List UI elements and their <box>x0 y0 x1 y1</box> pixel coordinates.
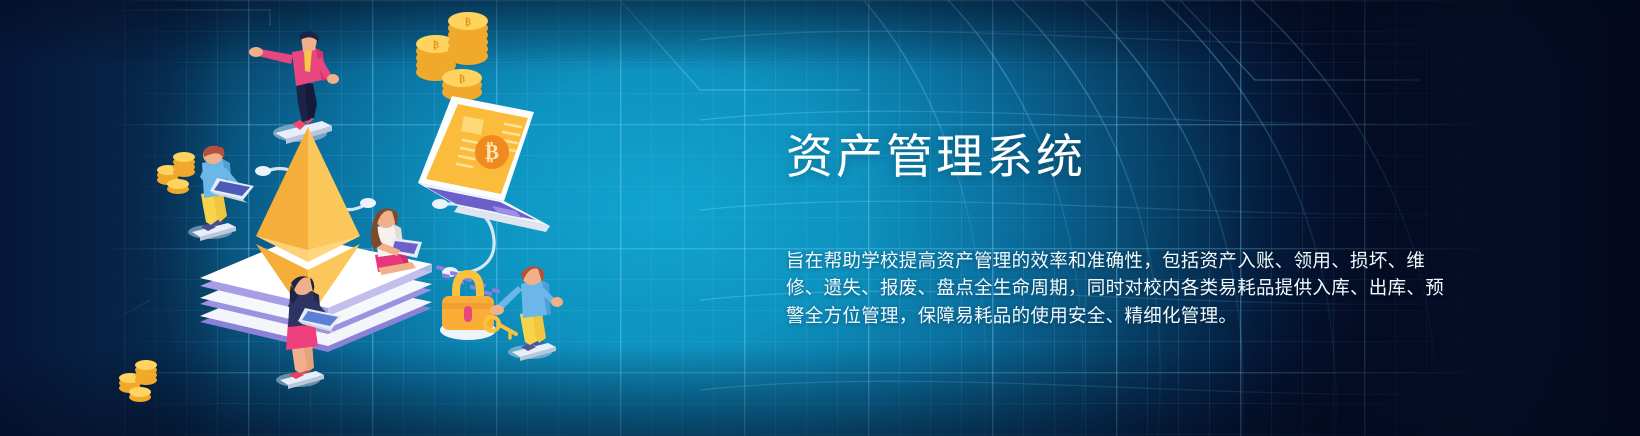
banner-text-block: 资产管理系统 旨在帮助学校提高资产管理的效率和准确性，包括资产入账、领用、损坏、… <box>786 0 1506 436</box>
page-description: 旨在帮助学校提高资产管理的效率和准确性，包括资产入账、领用、损坏、维修、遗失、报… <box>786 247 1452 330</box>
svg-text:₿: ₿ <box>465 17 471 27</box>
person-key <box>485 266 563 361</box>
connector-cable-nodes <box>255 166 458 277</box>
coin-stack-large: ₿ ₿ ₿ <box>416 12 488 101</box>
person-pink-laptop <box>276 276 342 389</box>
svg-text:₿: ₿ <box>433 40 439 50</box>
svg-text:₿: ₿ <box>485 140 499 164</box>
laptop-bitcoin: ₿ <box>418 96 550 296</box>
svg-text:₿: ₿ <box>459 74 465 84</box>
padlock <box>440 270 496 340</box>
hoverboard-person <box>249 31 339 144</box>
key-icon <box>485 317 516 338</box>
platform-stack <box>200 236 432 352</box>
person-sitting-laptop <box>371 208 422 275</box>
person-blue-laptop <box>188 146 254 241</box>
coin-stack-small-left <box>157 152 195 194</box>
ethereum-diamond <box>256 127 360 320</box>
left-dark-vignette <box>0 0 230 436</box>
hero-illustration: ₿ ₿ ₿ <box>60 0 600 436</box>
connector-cable <box>265 169 494 273</box>
coin-stack-small-bottom <box>119 360 157 402</box>
page-title: 资产管理系统 <box>786 128 1086 187</box>
asset-management-banner: ₿ ₿ ₿ <box>0 0 1640 436</box>
